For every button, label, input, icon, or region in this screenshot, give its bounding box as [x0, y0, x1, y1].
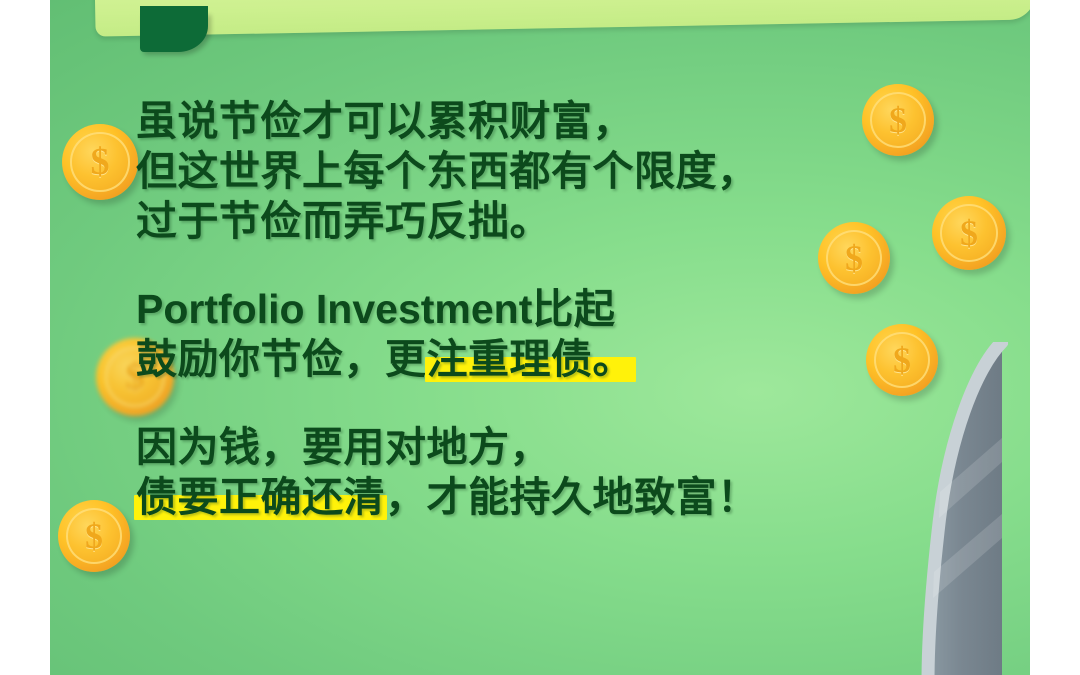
text-line: Portfolio Investment比起 — [136, 286, 615, 332]
text-line: 过于节俭而弄巧反拙。 — [136, 198, 551, 244]
top-ribbon-banner — [94, 0, 1030, 37]
coin-left-bottom: $ — [58, 500, 130, 572]
text-segment-latin: Portfolio Investment — [136, 286, 532, 332]
text-line: 债要正确还清，才能持久地致富！ — [136, 474, 759, 520]
paragraph-2: Portfolio Investment比起 鼓励你节俭，更注重理债。 — [136, 284, 956, 384]
paragraph-1: 虽说节俭才可以累积财富， 但这世界上每个东西都有个限度， 过于节俭而弄巧反拙。 — [136, 96, 956, 246]
highlighted-phrase: 债要正确还清 — [136, 472, 385, 522]
text-segment: 鼓励你节俭，更 — [136, 336, 427, 382]
green-content-panel: $ $ $ $ $ $ $ — [50, 0, 1030, 675]
ribbon-fold-tab — [140, 12, 208, 52]
slide-body-copy: 虽说节俭才可以累积财富， 但这世界上每个东西都有个限度， 过于节俭而弄巧反拙。 … — [136, 96, 956, 522]
dollar-icon: $ — [58, 500, 130, 572]
text-line: 虽说节俭才可以累积财富， — [136, 98, 634, 144]
text-line: 鼓励你节俭，更注重理债。 — [136, 336, 634, 382]
paragraph-3: 因为钱，要用对地方， 债要正确还清，才能持久地致富！ — [136, 422, 956, 522]
text-segment: 比起 — [532, 286, 615, 332]
text-segment: ，才能持久地致富！ — [385, 474, 759, 520]
text-line: 因为钱，要用对地方， — [136, 424, 551, 470]
text-line: 但这世界上每个东西都有个限度， — [136, 148, 759, 194]
dollar-icon: $ — [62, 124, 138, 200]
coin-left-top: $ — [62, 124, 138, 200]
slide-canvas: $ $ $ $ $ $ $ — [0, 0, 1080, 675]
highlighted-phrase: 注重理债。 — [427, 334, 635, 384]
